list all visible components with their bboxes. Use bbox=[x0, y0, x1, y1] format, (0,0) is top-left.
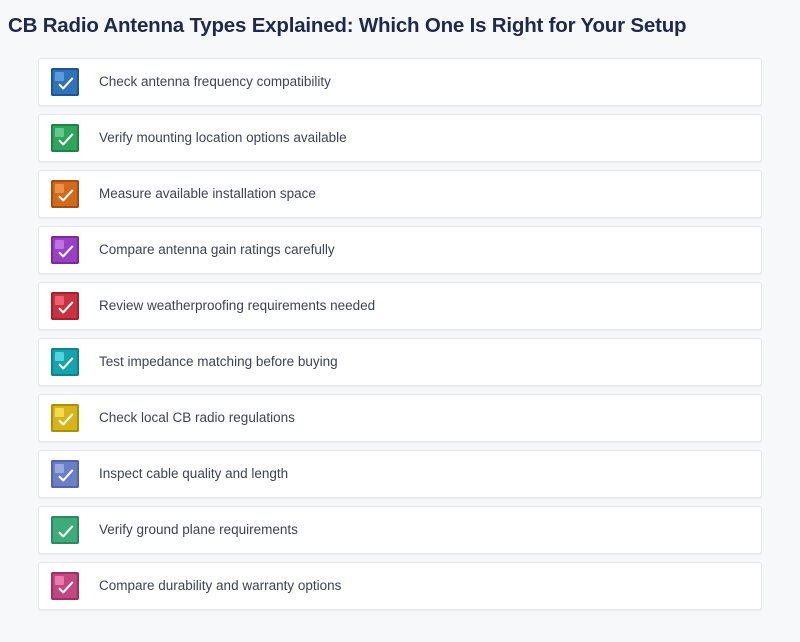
page-title: CB Radio Antenna Types Explained: Which … bbox=[0, 0, 800, 39]
checklist-item-label: Check antenna frequency compatibility bbox=[99, 73, 331, 91]
checklist-item-label: Compare durability and warranty options bbox=[99, 577, 341, 595]
checked-checkbox-icon[interactable] bbox=[51, 68, 79, 96]
checked-checkbox-icon[interactable] bbox=[51, 404, 79, 432]
checklist-item[interactable]: Inspect cable quality and length bbox=[38, 450, 762, 498]
checklist-item-label: Measure available installation space bbox=[99, 185, 316, 203]
checked-checkbox-icon[interactable] bbox=[51, 180, 79, 208]
checklist-item-label: Verify ground plane requirements bbox=[99, 521, 298, 539]
checked-checkbox-icon[interactable] bbox=[51, 572, 79, 600]
checklist-item-label: Check local CB radio regulations bbox=[99, 409, 295, 427]
checkmark-icon bbox=[57, 131, 75, 149]
checked-checkbox-icon[interactable] bbox=[51, 124, 79, 152]
checked-checkbox-icon[interactable] bbox=[51, 460, 79, 488]
checklist-item-label: Review weatherproofing requirements need… bbox=[99, 297, 375, 315]
checkmark-icon bbox=[57, 187, 75, 205]
checklist-item[interactable]: Check local CB radio regulations bbox=[38, 394, 762, 442]
checklist-item-label: Test impedance matching before buying bbox=[99, 353, 338, 371]
checkmark-icon bbox=[57, 411, 75, 429]
checklist-item[interactable]: Verify mounting location options availab… bbox=[38, 114, 762, 162]
page-root: CB Radio Antenna Types Explained: Which … bbox=[0, 0, 800, 642]
checkmark-icon bbox=[57, 355, 75, 373]
checkmark-icon bbox=[57, 467, 75, 485]
checked-checkbox-icon[interactable] bbox=[51, 236, 79, 264]
checked-checkbox-icon[interactable] bbox=[51, 292, 79, 320]
checkmark-icon bbox=[57, 299, 75, 317]
checklist-item[interactable]: Compare durability and warranty options bbox=[38, 562, 762, 610]
checked-checkbox-icon[interactable] bbox=[51, 348, 79, 376]
checklist: Check antenna frequency compatibilityVer… bbox=[38, 58, 762, 618]
checklist-item[interactable]: Compare antenna gain ratings carefully bbox=[38, 226, 762, 274]
checklist-item-label: Compare antenna gain ratings carefully bbox=[99, 241, 335, 259]
checklist-item-label: Inspect cable quality and length bbox=[99, 465, 288, 483]
checkmark-icon bbox=[57, 579, 75, 597]
checklist-item[interactable]: Measure available installation space bbox=[38, 170, 762, 218]
checkmark-icon bbox=[57, 523, 75, 541]
checklist-item[interactable]: Check antenna frequency compatibility bbox=[38, 58, 762, 106]
checklist-item[interactable]: Review weatherproofing requirements need… bbox=[38, 282, 762, 330]
checklist-item[interactable]: Test impedance matching before buying bbox=[38, 338, 762, 386]
checked-checkbox-icon[interactable] bbox=[51, 516, 79, 544]
checklist-item-label: Verify mounting location options availab… bbox=[99, 129, 347, 147]
checkmark-icon bbox=[57, 243, 75, 261]
checkmark-icon bbox=[57, 75, 75, 93]
checklist-item[interactable]: Verify ground plane requirements bbox=[38, 506, 762, 554]
